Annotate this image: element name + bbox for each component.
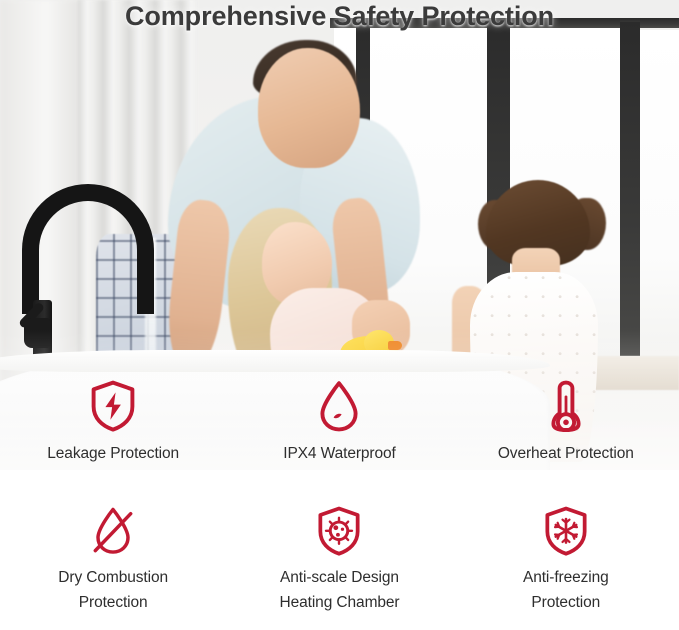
feature-label: Overheat Protection [498,441,634,466]
shield-germ-icon [316,506,362,556]
window-mullion-3 [620,22,640,356]
faucet-spout [22,184,154,314]
shield-bolt-icon [90,380,136,432]
water-droplet-icon [316,380,362,432]
feature-item-dry-combustion-protection[interactable]: Dry Combustion Protection [0,498,226,630]
page-title: Comprehensive Safety Protection [0,1,679,32]
bathtub-rim [0,350,550,372]
window-pane-far-right [640,30,679,350]
rubber-duck-beak [388,341,402,350]
faucet-handle-base [24,318,50,348]
shield-snowflake-icon [543,506,589,556]
feature-label: Leakage Protection [47,441,179,466]
feature-item-ipx4-waterproof[interactable]: IPX4 Waterproof [226,372,452,498]
feature-item-overheat-protection[interactable]: Overheat Protection [453,372,679,498]
feature-grid: Leakage Protection IPX4 Waterproof Overh… [0,372,679,630]
feature-item-anti-freezing-protection[interactable]: Anti-freezing Protection [453,498,679,630]
feature-item-anti-scale-design[interactable]: Anti-scale Design Heating Chamber [226,498,452,630]
feature-label: Anti-freezing Protection [523,565,609,615]
feature-item-leakage-protection[interactable]: Leakage Protection [0,372,226,498]
feature-label: IPX4 Waterproof [283,441,396,466]
feature-label: Anti-scale Design Heating Chamber [280,565,400,615]
man-face [258,48,360,168]
safety-protection-infographic: Comprehensive Safety Protection Leakage … [0,0,679,630]
no-dry-droplet-icon [90,506,136,556]
feature-label: Dry Combustion Protection [58,565,168,615]
thermometer-icon [543,380,589,432]
